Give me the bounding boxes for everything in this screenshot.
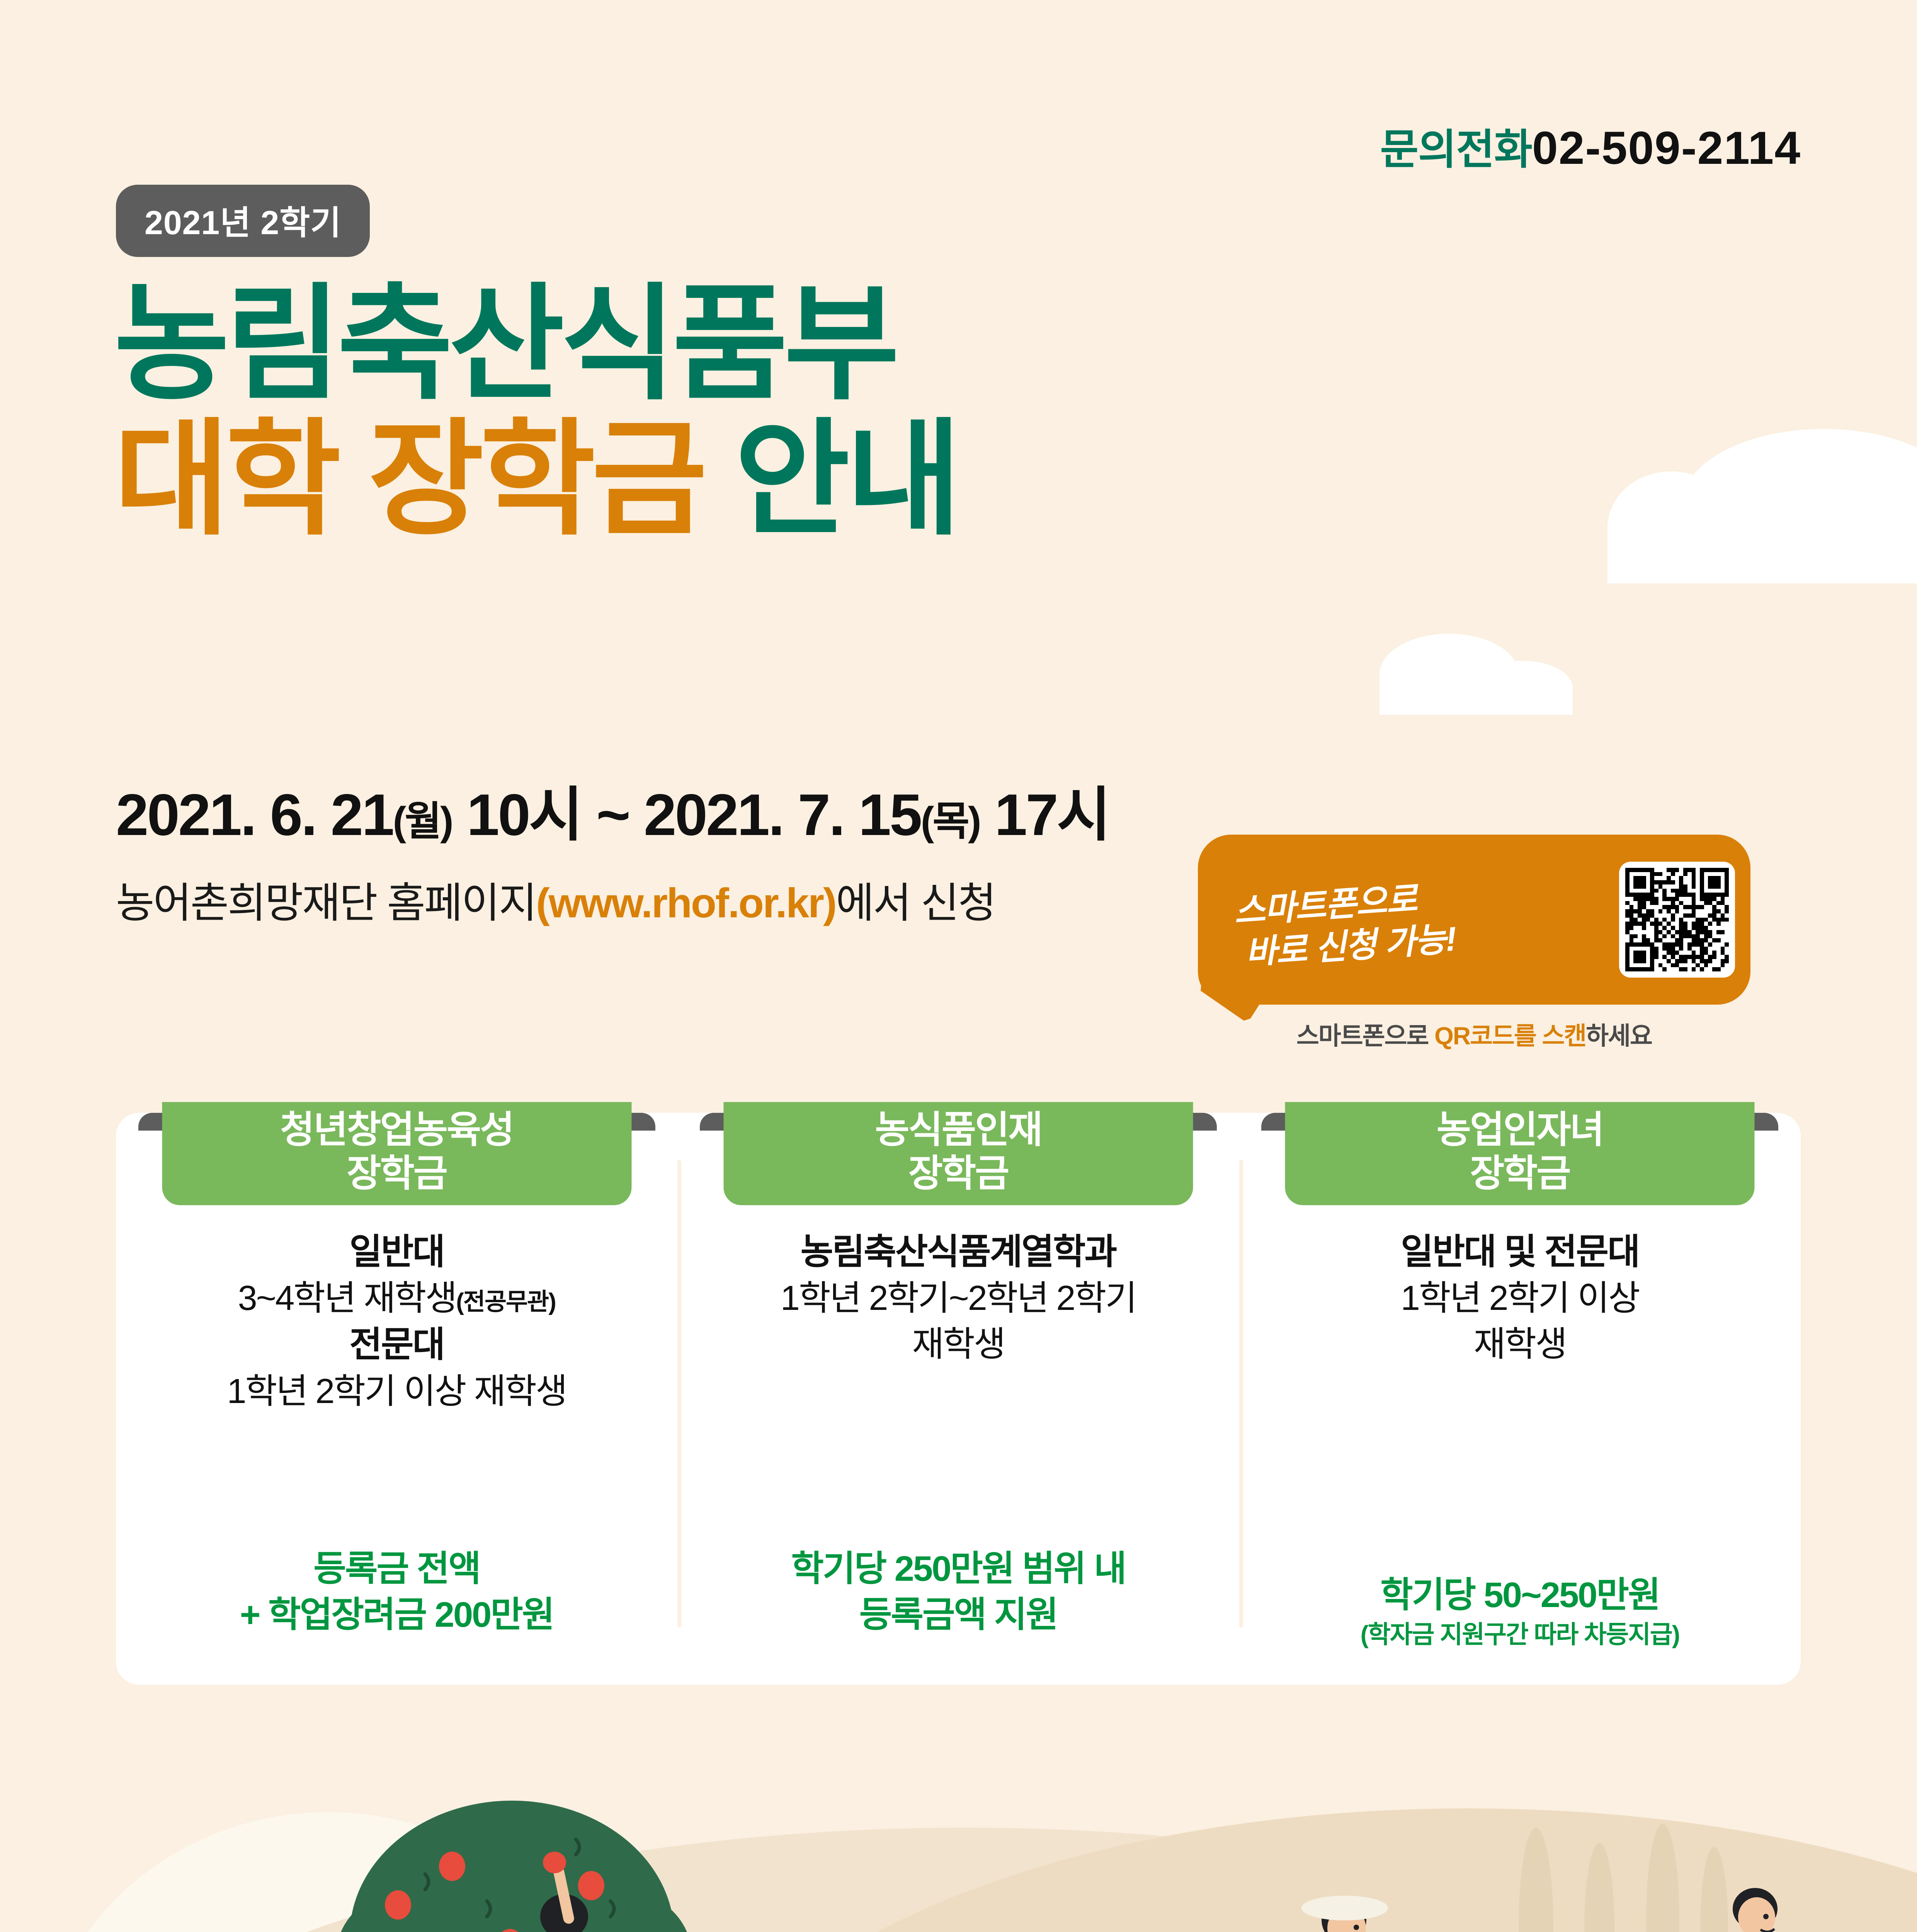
end-date: 2021. 7. 15 [644,782,921,848]
end-dow: (목) [921,799,980,844]
card-header: 농식품인재장학금 [723,1102,1193,1205]
card-amount: 학기당 250만원 범위 내등록금액 지원 [677,1546,1239,1638]
card-header-line-1: 청년창업농육성 [162,1108,631,1152]
eligibility-detail: 1학년 2학기 이상 재학생 [129,1369,664,1415]
eligibility-detail: 1학년 2학기 이상 [1252,1276,1788,1321]
eligibility-detail: 재학생 [1252,1321,1788,1367]
amount-note: (학자금 지원구간 따라 차등지급) [1247,1619,1793,1651]
card-header: 농업인자녀장학금 [1285,1102,1755,1205]
qr-code[interactable] [1619,862,1735,978]
qr-section: 스마트폰으로 바로 신청 가능! 스마트폰으로 QR코드를 스캔하세요 [1198,835,1750,1005]
apply-instruction: 농어촌희망재단 홈페이지(www.rhof.or.kr)에서 신청 [116,869,995,930]
scholarship-cards-panel: 청년창업농육성장학금일반대3~4학년 재학생(전공무관)전문대1학년 2학기 이… [116,1113,1801,1685]
qr-caption-prefix: 스마트폰으로 [1296,1022,1434,1050]
ribbon-fold-left [138,1113,162,1131]
cloud-large [1465,417,1917,583]
ribbon-fold-right [1754,1113,1778,1131]
title-line-1: 농림축산식품부 [114,282,958,406]
period-separator: ~ [596,782,629,848]
eligibility-heading: 일반대 및 전문대 [1252,1229,1788,1276]
eligibility-heading: 일반대 [129,1229,664,1276]
ribbon-fold-right [1193,1113,1217,1131]
card-header-line-2: 장학금 [162,1152,631,1196]
contact-number: 02-509-2114 [1532,122,1801,174]
cloud-small [1379,626,1627,715]
card-eligibility: 일반대3~4학년 재학생(전공무관)전문대1학년 2학기 이상 재학생 [116,1229,677,1414]
card-eligibility: 농림축산식품계열학과1학년 2학기~2학년 2학기재학생 [677,1229,1239,1367]
qr-speech-bubble: 스마트폰으로 바로 신청 가능! [1198,835,1750,1005]
card-header: 청년창업농육성장학금 [162,1102,631,1205]
pigs-and-feeder [1681,1878,1917,1932]
farm-illustration [0,1712,1917,1932]
card-header-line-2: 장학금 [1285,1152,1755,1196]
amount-line: 등록금액 지원 [685,1592,1231,1638]
card-header-line-1: 농식품인재 [723,1108,1193,1152]
semester-badge: 2021년 2학기 [116,185,370,257]
card-header-line-2: 장학금 [723,1152,1193,1196]
eligibility-detail: 재학생 [691,1321,1226,1367]
pear-tree [116,1917,356,1932]
eligibility-heading: 농림축산식품계열학과 [691,1229,1226,1276]
amount-line: 등록금 전액 [124,1546,670,1592]
ribbon-fold-left [1261,1113,1285,1131]
poster-root: 문의전화02-509-2114 2021년 2학기 농림축산식품부 대학 장학금… [0,0,1917,1932]
start-time: 10시 [467,782,582,848]
qr-caption-suffix: 하세요 [1586,1022,1652,1050]
apply-suffix: 에서 신청 [836,879,995,926]
page-title: 농림축산식품부 대학 장학금 안내 [114,282,958,542]
amount-line: 학기당 250만원 범위 내 [685,1546,1231,1592]
contact-phone: 문의전화02-509-2114 [1380,116,1801,176]
ribbon-fold-left [700,1113,724,1131]
eligibility-detail: 3~4학년 재학생(전공무관) [129,1276,664,1321]
eligibility-heading: 전문대 [129,1321,664,1368]
title-line-2: 대학 장학금 안내 [114,417,958,542]
scholarship-card: 농업인자녀장학금일반대 및 전문대1학년 2학기 이상재학생학기당 50~250… [1239,1113,1801,1685]
qr-caption: 스마트폰으로 QR코드를 스캔하세요 [1198,1016,1750,1052]
start-date: 2021. 6. 21 [116,782,393,848]
apply-url[interactable]: (www.rhof.or.kr) [536,879,836,926]
eligibility-detail: 1학년 2학기~2학년 2학기 [691,1276,1226,1321]
qr-bubble-text: 스마트폰으로 바로 신청 가능! [1233,864,1618,975]
contact-label: 문의전화 [1380,126,1532,173]
qr-caption-highlight: QR코드를 스캔 [1434,1022,1586,1050]
scholarship-card: 농식품인재장학금농림축산식품계열학과1학년 2학기~2학년 2학기재학생학기당 … [677,1113,1239,1685]
apple-tree-with-picker [270,1789,754,1932]
apply-prefix: 농어촌희망재단 홈페이지 [116,879,536,926]
start-dow: (월) [393,799,452,844]
woman-feeding-chickens [1287,1878,1488,1932]
title-green: 안내 [735,409,958,549]
title-orange: 대학 장학금 [114,409,703,549]
card-eligibility: 일반대 및 전문대1학년 2학기 이상재학생 [1239,1229,1801,1367]
end-time: 17시 [995,782,1109,848]
card-amount: 등록금 전액+ 학업장려금 200만원 [116,1546,677,1638]
card-header-line-1: 농업인자녀 [1285,1108,1755,1152]
ribbon-fold-right [631,1113,655,1131]
qr-matrix [1625,868,1729,971]
card-amount: 학기당 50~250만원(학자금 지원구간 따라 차등지급) [1239,1572,1801,1651]
amount-line: + 학업장려금 200만원 [124,1592,670,1638]
application-period: 2021. 6. 21(월) 10시 ~ 2021. 7. 15(목) 17시 [116,767,1109,852]
scholarship-card: 청년창업농육성장학금일반대3~4학년 재학생(전공무관)전문대1학년 2학기 이… [116,1113,677,1685]
eligibility-note: (전공무관) [456,1289,555,1315]
amount-line: 학기당 50~250만원 [1247,1572,1793,1619]
